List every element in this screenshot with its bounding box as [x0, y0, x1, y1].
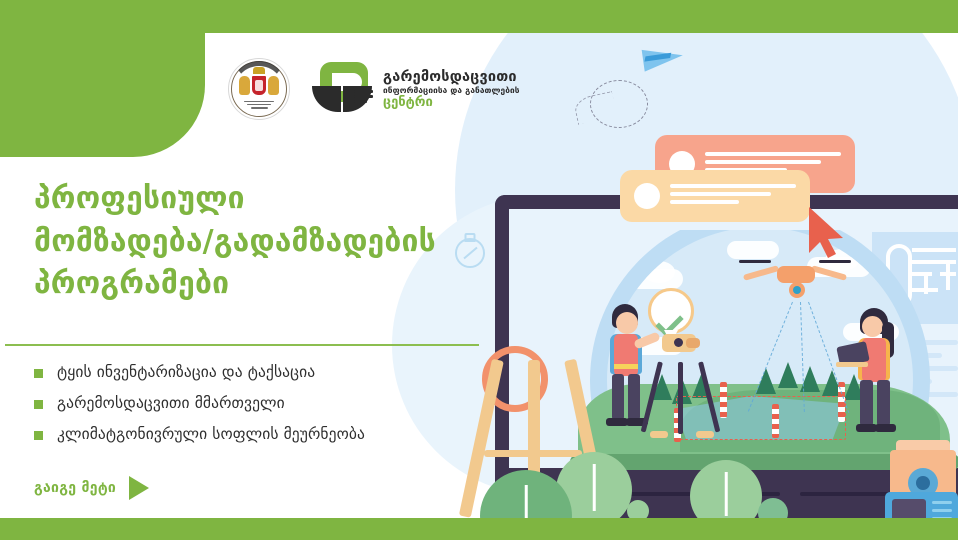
notification-card-amber	[620, 170, 810, 222]
headline-line-3: პროგრამები	[34, 263, 474, 306]
shield-icon	[251, 75, 267, 96]
page-title: პროფესიული მომზადება/გადამზადების პროგრა…	[34, 178, 474, 306]
measuring-pole	[772, 404, 779, 438]
bullet-square-icon	[34, 400, 43, 409]
drone-arm-right	[811, 265, 847, 281]
bullet-square-icon	[34, 369, 43, 378]
measuring-pole	[720, 382, 727, 418]
headline-line-1: პროფესიული	[34, 178, 474, 221]
eiec-logo-mark-icon	[312, 60, 374, 118]
tripod-leg	[678, 362, 683, 434]
vest-stripe	[614, 364, 638, 369]
org-name-line1: გარემოსდაცვითი	[383, 70, 520, 85]
bullet-square-icon	[34, 431, 43, 440]
easel-crossbar	[484, 450, 582, 457]
head	[862, 316, 883, 337]
avatar	[634, 183, 660, 209]
female-surveyor	[846, 308, 916, 436]
theodolite-scope	[686, 338, 700, 348]
org-logo-text: გარემოსდაცვითი ინფორმაციისა და განათლები…	[383, 68, 520, 111]
shoe	[875, 424, 896, 432]
drone-camera-icon	[789, 282, 805, 298]
leg	[877, 380, 890, 426]
georgia-coat-of-arms-seal-icon	[228, 58, 290, 120]
shoe	[606, 418, 628, 426]
drone-body	[777, 266, 815, 283]
org-name-line3: ცენტრი	[383, 96, 520, 110]
cloud	[643, 261, 675, 283]
org-logo: გარემოსდაცვითი ინფორმაციისა და განათლები…	[312, 60, 520, 118]
list-item: ტყის ინვენტარიზაცია და ტაქსაცია	[34, 362, 504, 382]
mouse-cursor-icon	[805, 205, 851, 261]
theodolite-lens	[674, 338, 683, 347]
card-lines	[670, 184, 796, 208]
laptop-base	[836, 362, 868, 367]
list-item: კლიმატგონივრული სოფლის მეურნეობა	[34, 424, 504, 444]
bottom-green-bar	[0, 518, 958, 540]
learn-more-button[interactable]: გაიგე მეტი	[34, 476, 149, 500]
logo-group: გარემოსდაცვითი ინფორმაციისა და განათლები…	[228, 58, 520, 120]
head	[616, 312, 638, 334]
promo-slide: გარემოსდაცვითი ინფორმაციისა და განათლები…	[0, 0, 958, 540]
lion-left-icon	[239, 76, 250, 95]
crown-icon	[253, 67, 265, 74]
play-triangle-icon[interactable]	[129, 476, 149, 500]
leg	[612, 374, 624, 420]
tripod-foot	[650, 431, 668, 438]
drone-arm-left	[743, 265, 779, 281]
list-item: გარემოსდაცვითი მმართველი	[34, 393, 504, 413]
headline-line-2: მომზადება/გადამზადების	[34, 221, 474, 264]
left-green-block	[0, 0, 205, 157]
lion-right-icon	[268, 76, 279, 95]
list-item-label: ტყის ინვენტარიზაცია და ტაქსაცია	[57, 362, 315, 382]
survey-scene	[560, 230, 958, 470]
tripod-foot	[696, 431, 714, 438]
learn-more-label: გაიგე მეტი	[34, 480, 116, 496]
survey-drone	[745, 256, 845, 300]
divider	[5, 344, 479, 346]
theodolite-tripod	[652, 334, 712, 434]
leg	[860, 380, 873, 426]
program-list: ტყის ინვენტარიზაცია და ტაქსაცია გარემოსდ…	[34, 362, 504, 455]
leg	[628, 374, 640, 420]
list-item-label: გარემოსდაცვითი მმართველი	[57, 393, 285, 413]
list-item-label: კლიმატგონივრული სოფლის მეურნეობა	[57, 424, 365, 444]
drone-rotor-left	[739, 260, 771, 263]
seal-inscription	[242, 99, 276, 112]
pine-tree	[778, 362, 798, 388]
shoe	[856, 424, 877, 432]
